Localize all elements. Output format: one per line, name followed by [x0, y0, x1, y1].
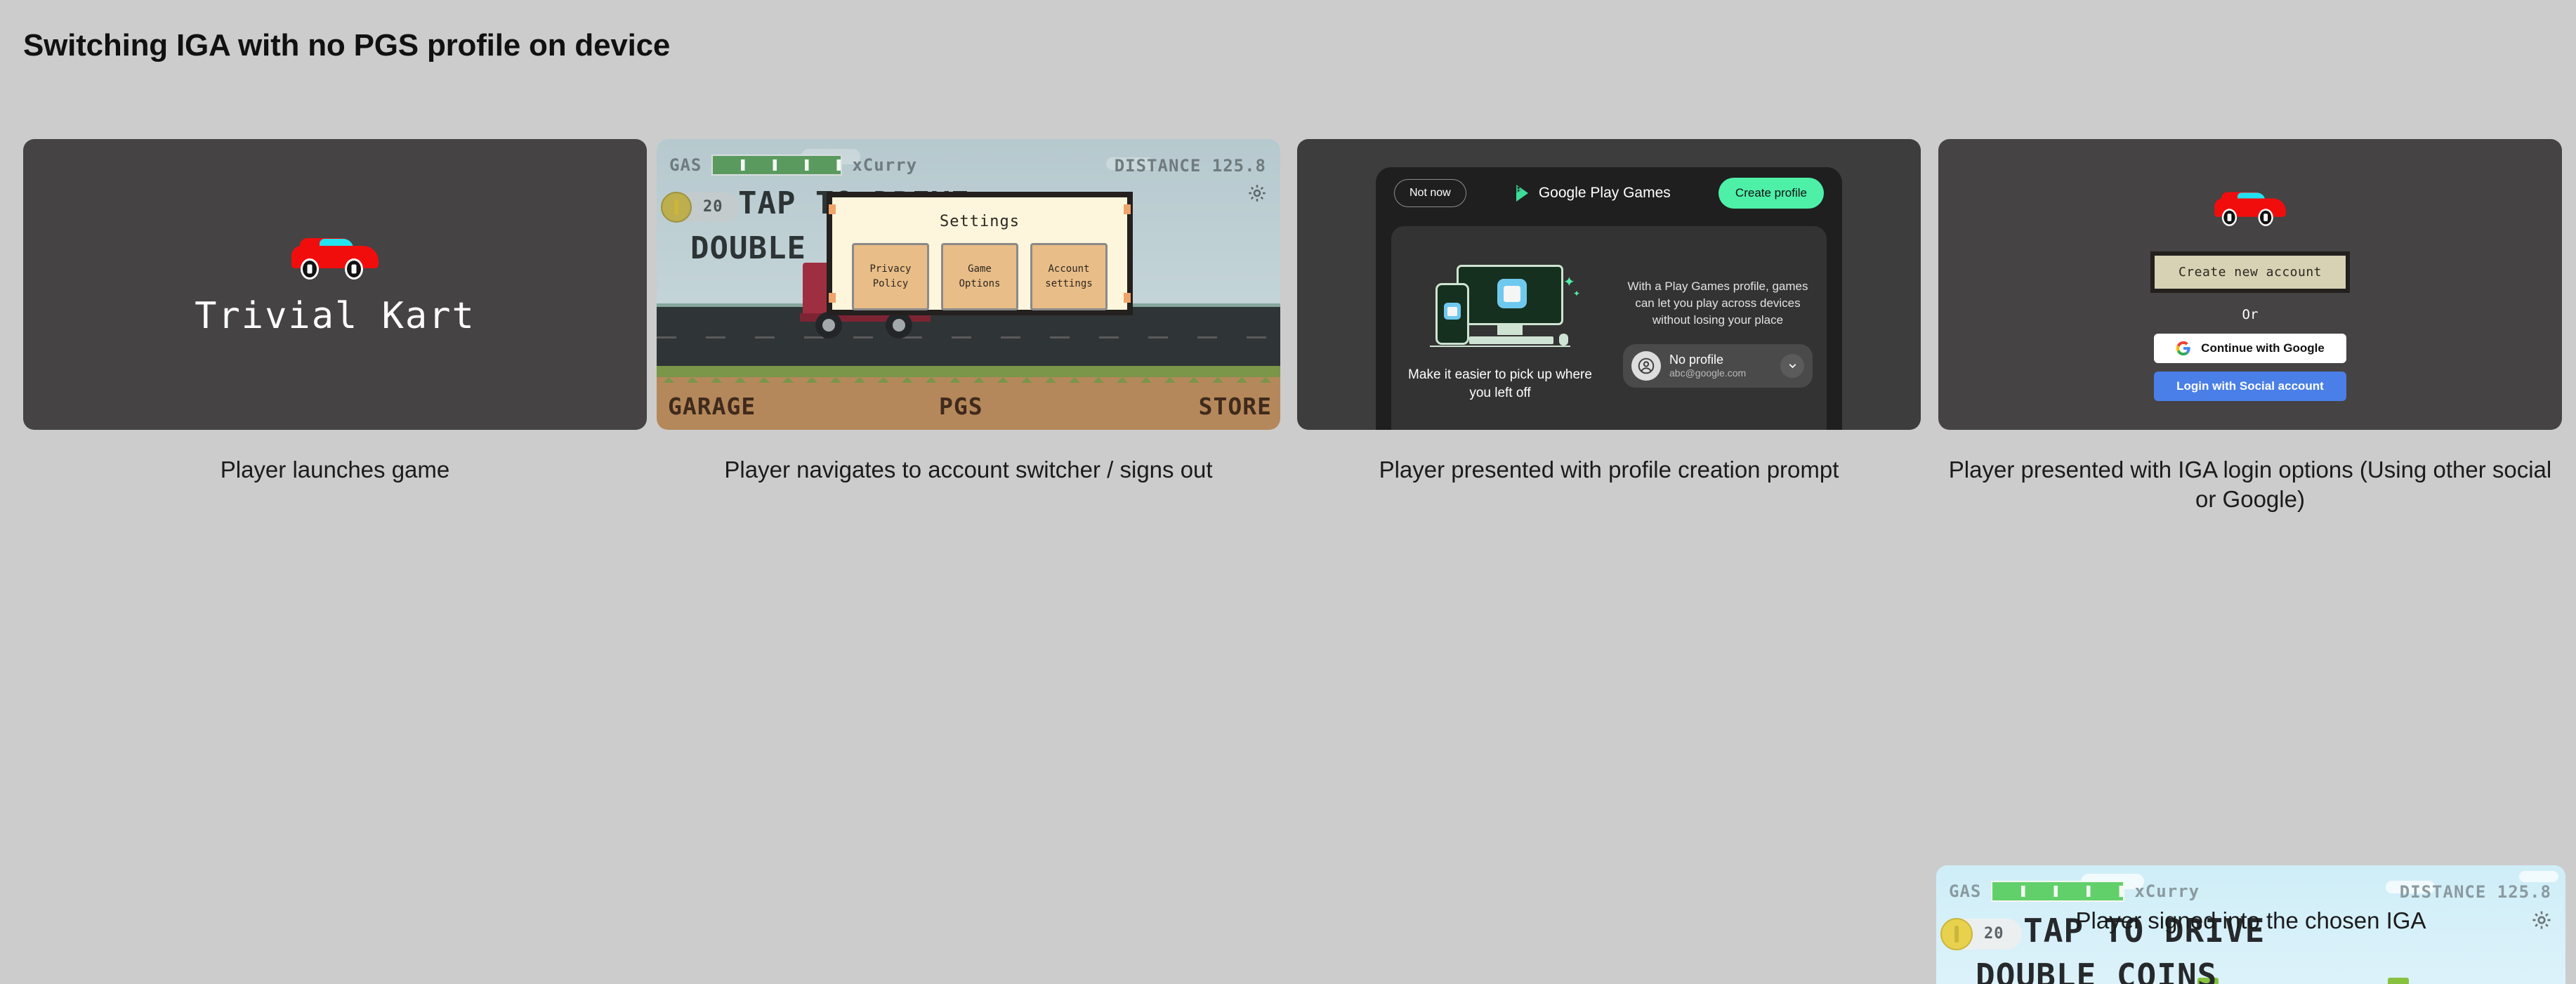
- gas-label: GAS: [669, 155, 702, 175]
- privacy-policy-line1: Privacy: [869, 263, 911, 275]
- slide-canvas: Switching IGA with no PGS profile on dev…: [0, 0, 2576, 984]
- devices-phone-monitor-illustration-icon: ✦ ✦: [1430, 263, 1570, 355]
- coin-badge: 20: [664, 192, 740, 222]
- pgs-illustration-caption: Make it easier to pick up where you left…: [1401, 366, 1599, 402]
- pgs-body: ✦ ✦ Make it easier to pick up where you …: [1391, 226, 1827, 430]
- privacy-policy-line2: Policy: [873, 278, 909, 289]
- gas-gauge: [711, 155, 842, 176]
- not-now-button[interactable]: Not now: [1394, 179, 1466, 207]
- gas-label: GAS: [1949, 881, 1981, 901]
- panel-1-game-splash: Trivial Kart: [23, 139, 647, 430]
- nav-store[interactable]: STORE: [1199, 393, 1272, 420]
- profile-email: abc@google.com: [1669, 367, 1746, 379]
- settings-modal: Settings Privacy Policy Game Options Acc…: [832, 197, 1127, 310]
- page-title: Switching IGA with no PGS profile on dev…: [23, 28, 670, 63]
- chevron-down-icon[interactable]: [1780, 354, 1804, 378]
- panel-1-caption: Player launches game: [23, 455, 647, 485]
- coin-count: 20: [703, 198, 723, 216]
- continue-with-google-label: Continue with Google: [2201, 341, 2325, 355]
- pgs-brand: Google Play Games: [1514, 183, 1671, 203]
- account-settings-line1: Account: [1048, 263, 1089, 275]
- pgs-illustration-block: ✦ ✦ Make it easier to pick up where you …: [1391, 226, 1609, 430]
- game-title: Trivial Kart: [195, 295, 475, 337]
- nav-garage[interactable]: GARAGE: [668, 393, 756, 420]
- game-subline: DOUBLE COINS: [1976, 957, 2217, 984]
- panel-2-caption: Player navigates to account switcher / s…: [657, 455, 1280, 485]
- profile-selector[interactable]: No profile abc@google.com: [1623, 344, 1813, 388]
- account-settings-line2: settings: [1045, 278, 1092, 289]
- red-pixel-car-icon: [289, 232, 381, 280]
- nav-pgs[interactable]: PGS: [939, 393, 983, 420]
- panel-4-iga-login: Create new account Or Continue with Goog…: [1938, 139, 2562, 430]
- or-divider-label: Or: [2242, 307, 2259, 322]
- game-options-line2: Options: [959, 278, 1000, 289]
- player-name: xCurry: [2134, 881, 2200, 901]
- privacy-policy-button[interactable]: Privacy Policy: [852, 243, 929, 310]
- distance-label: DISTANCE 125.8: [2400, 882, 2551, 902]
- game-options-button[interactable]: Game Options: [941, 243, 1018, 310]
- panel-5-caption: Player signed into the chosen IGA: [1936, 906, 2565, 936]
- gas-gauge: [1991, 881, 2124, 902]
- pgs-brand-text: Google Play Games: [1539, 185, 1671, 202]
- panel-3-caption: Player presented with profile creation p…: [1297, 455, 1921, 485]
- pgs-description: With a Play Games profile, games can let…: [1623, 278, 1813, 328]
- gear-icon[interactable]: [1247, 183, 1268, 204]
- pgs-header: Not now Google Play Games Create profile: [1376, 167, 1842, 219]
- red-pixel-car-icon: [2212, 187, 2288, 226]
- game-options-line1: Game: [968, 263, 992, 275]
- distance-label: DISTANCE 125.8: [1115, 156, 1266, 176]
- account-circle-icon: [1631, 351, 1661, 381]
- create-new-account-button[interactable]: Create new account: [2155, 256, 2346, 289]
- settings-modal-title: Settings: [832, 213, 1127, 230]
- pgs-info-block: With a Play Games profile, games can let…: [1609, 226, 1827, 430]
- player-name: xCurry: [852, 155, 917, 175]
- account-settings-button[interactable]: Account settings: [1030, 243, 1108, 310]
- login-with-social-button[interactable]: Login with Social account: [2154, 372, 2346, 401]
- profile-name: No profile: [1669, 353, 1746, 367]
- panel-3-pgs-prompt: Not now Google Play Games Create profile: [1297, 139, 1921, 430]
- panel-4-caption: Player presented with IGA login options …: [1938, 455, 2562, 514]
- pgs-card: Not now Google Play Games Create profile: [1376, 167, 1842, 430]
- continue-with-google-button[interactable]: Continue with Google: [2154, 334, 2346, 363]
- google-g-icon: [2176, 341, 2191, 356]
- panel-2-settings-modal: GAS xCurry DISTANCE 125.8 20 TAP TO DRIV…: [657, 139, 1280, 430]
- create-profile-button[interactable]: Create profile: [1719, 178, 1824, 209]
- play-games-icon: [1514, 183, 1532, 203]
